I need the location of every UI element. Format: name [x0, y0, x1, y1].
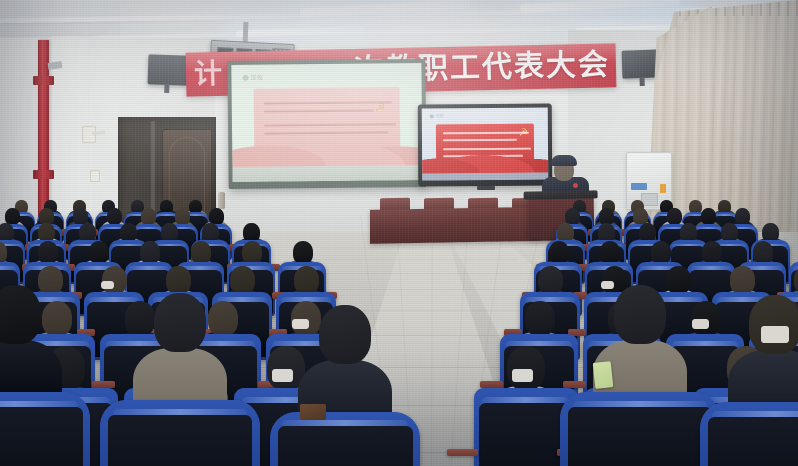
audience-head: [319, 305, 371, 364]
wall-socket[interactable]: [90, 170, 100, 182]
slide-text-line: [264, 101, 392, 104]
face-mask: [512, 369, 533, 382]
auditorium-seat[interactable]: [560, 392, 720, 466]
audience-head: [730, 266, 755, 294]
face-mask: [272, 369, 293, 382]
display-logo-dot: [430, 114, 434, 118]
auditorium-seat[interactable]: [270, 412, 420, 466]
audience-head: [538, 266, 563, 294]
face-mask: [101, 281, 114, 289]
audience-head: [230, 266, 255, 294]
display-text-line: [443, 148, 531, 151]
notebook: [300, 404, 326, 420]
door-handle[interactable]: [218, 192, 225, 209]
pipe-flange: [33, 76, 54, 85]
wall-speaker: [147, 54, 188, 85]
slide-text-line: [264, 123, 396, 126]
face-mask: [692, 319, 709, 329]
presenter-cap: [551, 155, 577, 166]
slide-decoration: [232, 140, 422, 168]
banner-text-left: 计: [194, 54, 223, 95]
audience-head: [753, 241, 773, 264]
audience-head: [600, 241, 620, 264]
audience-head: [242, 241, 262, 264]
audience-head: [166, 266, 191, 294]
display-stand: [477, 186, 495, 190]
display-logo-label: 汉仪: [436, 113, 444, 118]
audience-head: [651, 241, 671, 264]
projection-screen: 汉仪 ☭: [227, 59, 426, 189]
audience-head: [38, 241, 58, 264]
display-decoration: [422, 155, 548, 174]
seat-armrest: [447, 449, 478, 456]
display-logo: 汉仪: [430, 113, 444, 119]
slide-footer: [232, 165, 422, 182]
cabinet-label: [631, 183, 647, 190]
seat-cushion: [278, 426, 413, 466]
presenter-badge: [573, 183, 578, 188]
audience-head: [102, 266, 127, 294]
speaker-bracket: [639, 77, 644, 86]
podium-top: [524, 190, 598, 199]
audience-head: [702, 241, 722, 264]
pipe-flange: [33, 170, 54, 179]
cabinet-sticker: [660, 184, 666, 193]
slide-logo: 汉仪: [242, 73, 263, 82]
audience-head: [293, 241, 313, 264]
conference-hall-photo: 计 次教职工代表大会 汉仪 ☭ 汉仪 ☭: [0, 0, 798, 466]
slide-text-line: [264, 110, 374, 113]
audience-head: [294, 266, 319, 294]
audience-head: [749, 295, 798, 354]
notebook: [593, 361, 614, 389]
seat-cushion: [708, 417, 798, 466]
speaker-bracket: [164, 84, 169, 93]
auditorium-seat[interactable]: [100, 400, 260, 466]
seat-cushion: [108, 415, 252, 466]
floor-seam: [305, 259, 517, 260]
seat-cushion: [0, 407, 83, 466]
auditorium-seat[interactable]: [700, 402, 798, 466]
audience-head: [89, 241, 109, 264]
seat-cushion: [479, 403, 573, 466]
display-footer: [422, 173, 548, 181]
audience-head: [507, 346, 545, 390]
seat-cushion: [568, 407, 712, 466]
slide-text-line: [264, 131, 388, 134]
led-display: 汉仪 ☭: [418, 104, 553, 187]
floor-seam: [320, 248, 500, 249]
audience-head: [140, 241, 160, 264]
audience-head: [154, 293, 206, 352]
auditorium-seat[interactable]: [0, 392, 90, 466]
audience-head: [549, 241, 569, 264]
face-mask: [761, 326, 789, 343]
audience-head: [525, 301, 555, 336]
audience-head: [794, 266, 798, 294]
display-surface: 汉仪 ☭: [422, 108, 548, 181]
slide-logo-dot: [242, 75, 248, 81]
display-text-line: [443, 132, 529, 135]
audience-head: [0, 285, 41, 344]
projection-surface: 汉仪 ☭: [231, 63, 422, 182]
display-text-line: [443, 139, 517, 142]
slide-logo-label: 汉仪: [250, 76, 263, 82]
audience-head: [191, 241, 211, 264]
audience-head: [614, 285, 666, 344]
